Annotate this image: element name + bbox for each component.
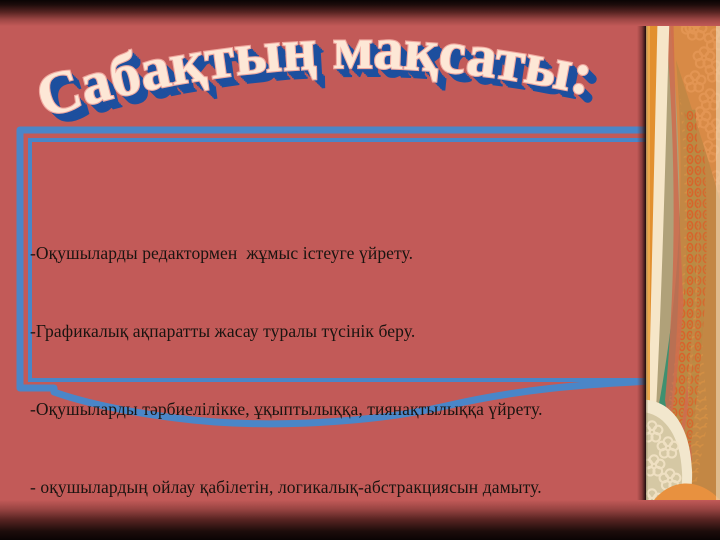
ornamental-floral-border bbox=[646, 0, 720, 540]
objective-line-4: - оқушылардың ойлау қабілетін, логикалық… bbox=[30, 474, 666, 500]
objective-line-2: -Графикалық ақпаратты жасау туралы түсін… bbox=[30, 318, 666, 344]
slide-title-wordart: Сабақтың мақсаты: Сабақтың мақсаты: Саба… bbox=[0, 14, 648, 134]
objective-line-3: -Оқушыларды тәрбиелілікке, ұқыптылыққа, … bbox=[30, 396, 666, 422]
objectives-text-block: -Оқушыларды редактормен жұмыс істеуге үй… bbox=[30, 188, 666, 540]
objectives-callout: -Оқушыларды редактормен жұмыс істеуге үй… bbox=[16, 126, 680, 426]
objective-line-1: -Оқушыларды редактормен жұмыс істеуге үй… bbox=[30, 240, 666, 266]
presentation-slide: Сабақтың мақсаты: Сабақтың мақсаты: Саба… bbox=[0, 0, 720, 540]
